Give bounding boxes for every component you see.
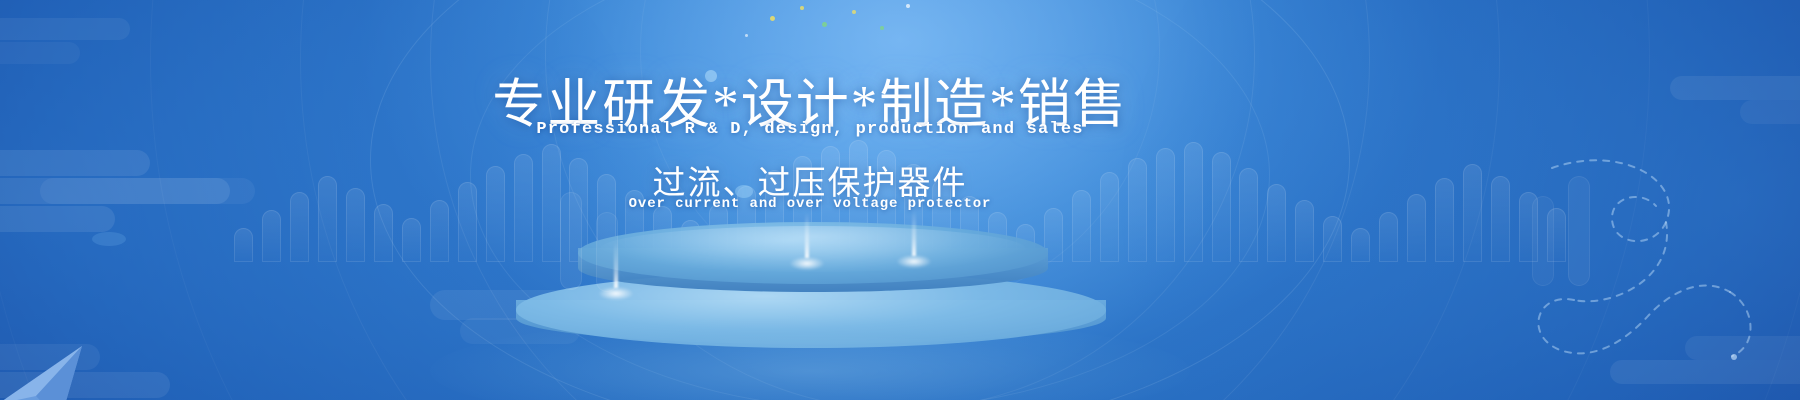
wavy-bar xyxy=(1351,228,1370,262)
rounded-column-r1 xyxy=(1568,176,1590,286)
rounded-column-l2 xyxy=(596,212,618,292)
wavy-bar xyxy=(402,218,421,262)
particle-yellow-2 xyxy=(800,6,804,10)
particle-white-2 xyxy=(745,34,748,37)
wavy-bar xyxy=(1212,152,1231,262)
wavy-bar xyxy=(1239,168,1258,262)
wavy-bar xyxy=(1128,158,1147,262)
wavy-bar xyxy=(1463,164,1482,262)
wavy-bar xyxy=(318,176,337,262)
wavy-bar xyxy=(1379,212,1398,262)
paper-plane-icon xyxy=(0,330,166,400)
wavy-bar xyxy=(458,182,477,262)
wavy-bar xyxy=(374,204,393,262)
particle-green-2 xyxy=(880,26,884,30)
wavy-bar xyxy=(1156,148,1175,262)
wavy-bar xyxy=(1407,194,1426,262)
wavy-bar xyxy=(1491,176,1510,262)
rounded-column-r2 xyxy=(1532,196,1554,286)
particle-highlight-3 xyxy=(92,232,126,246)
wavy-bar xyxy=(1267,184,1286,262)
particle-highlight-2 xyxy=(735,185,753,198)
wavy-bar xyxy=(486,166,505,262)
wavy-bar xyxy=(234,228,253,262)
light-beam-2 xyxy=(789,198,825,270)
wavy-bar xyxy=(542,144,561,262)
rounded-column-l1 xyxy=(560,192,582,290)
particle-green-1 xyxy=(822,22,827,27)
cloud-bar-l7 xyxy=(0,18,130,40)
wavy-bar xyxy=(1295,200,1314,262)
particle-yellow-3 xyxy=(852,10,856,14)
cloud-bar-l4 xyxy=(40,178,255,204)
wavy-bar xyxy=(1323,216,1342,262)
wavy-bar xyxy=(1435,178,1454,262)
cloud-bar-l1 xyxy=(0,150,150,176)
cloud-bar-r1 xyxy=(1670,76,1800,100)
wavy-bar xyxy=(290,192,309,262)
cloud-bar-r2 xyxy=(1740,100,1800,124)
particle-highlight-1 xyxy=(705,70,717,82)
wavy-bar xyxy=(430,200,449,262)
particle-yellow-1 xyxy=(770,16,775,21)
particle-white-1 xyxy=(906,4,910,8)
wavy-bar xyxy=(1184,142,1203,262)
wavy-bar xyxy=(346,188,365,262)
wavy-bar xyxy=(262,210,281,262)
cloud-bar-l8 xyxy=(0,42,80,64)
light-beam-3 xyxy=(896,196,932,268)
cloud-bar-l3 xyxy=(0,206,115,232)
hero-banner: 专业研发*设计*制造*销售 Professional R & D, design… xyxy=(0,0,1800,400)
wavy-bar xyxy=(514,154,533,262)
wavy-bar xyxy=(1072,190,1091,262)
wavy-bar xyxy=(1100,172,1119,262)
